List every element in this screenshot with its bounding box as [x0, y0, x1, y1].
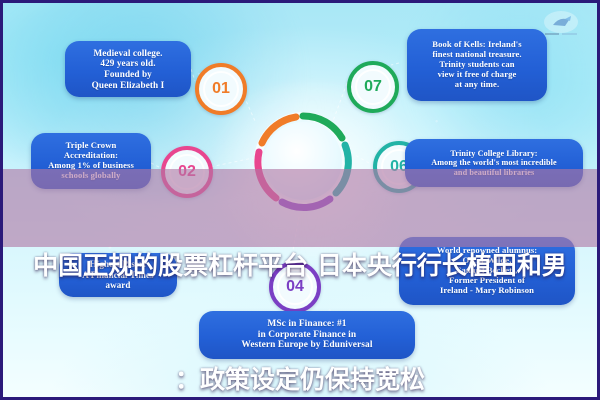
headline-text: 中国正规的股票杠杆平台 日本央行行长植田和男 ：政策设定仍保持宽松: [3, 171, 597, 400]
callout-line: Founded by: [73, 69, 183, 80]
step-badge-label: 07: [364, 78, 382, 96]
step-badge-label: 01: [212, 80, 230, 98]
callout-text: Medieval college.429 years old.Founded b…: [73, 48, 183, 91]
callout-book-of-kells: Book of Kells: Ireland'sfinest national …: [407, 29, 547, 101]
headline-line-2: ：政策设定仍保持宽松: [3, 361, 597, 399]
headline-line-1: 中国正规的股票杠杆平台 日本央行行长植田和男: [3, 247, 597, 285]
step-badge-07: 07: [347, 61, 399, 113]
callout-line: Medieval college.: [73, 48, 183, 59]
callout-line: 429 years old.: [73, 58, 183, 69]
site-logo-watermark: [533, 9, 589, 39]
infographic-screenshot: 0102040607 Medieval college.429 years ol…: [0, 0, 600, 400]
callout-line: Queen Elizabeth I: [73, 80, 183, 91]
callout-line: Among the world's most incredible: [413, 158, 575, 168]
callout-line: Trinity College Library:: [413, 149, 575, 159]
callout-medieval-college: Medieval college.429 years old.Founded b…: [65, 41, 191, 97]
callout-text: Book of Kells: Ireland'sfinest national …: [415, 40, 539, 90]
step-badge-01: 01: [195, 63, 247, 115]
callout-line: at any time.: [415, 80, 539, 90]
